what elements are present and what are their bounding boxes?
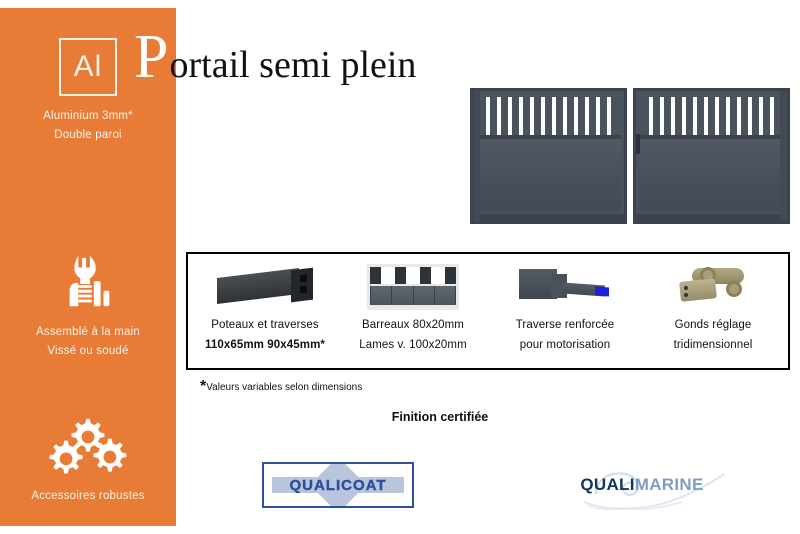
feature-1-line1: Barreaux 80x20mm	[338, 319, 488, 331]
sidebar-block-assembly: Assemblé à la main Vissé ou soudé	[0, 246, 176, 357]
gate-foot-left	[473, 214, 624, 221]
qualimarine-text-part2: MARINE	[635, 475, 704, 494]
feature-0-line1: Poteaux et traverses	[190, 319, 340, 331]
qualimarine-text-part1: QUALI	[580, 475, 634, 494]
feature-0-line2: 110x65mm 90x45mm*	[190, 339, 340, 351]
gate-panel-right	[639, 139, 784, 211]
qualicoat-logo: QUALICOAT	[262, 462, 414, 508]
gate-bars-right	[642, 97, 781, 135]
sidebar-label-accessories-1: Accessoires robustes	[0, 490, 176, 502]
feature-1-line2: Lames v. 100x20mm	[338, 339, 488, 351]
gate-leaf-left	[470, 88, 627, 224]
feature-poteaux-et-traverses: Poteaux et traverses 110x65mm 90x45mm*	[190, 258, 340, 351]
sidebar-label-aluminium-2: Double paroi	[0, 129, 176, 141]
footnote: *Valeurs variables selon dimensions	[200, 378, 362, 396]
feature-3-line2: tridimensionnel	[638, 339, 788, 351]
motorisation-beam-icon	[490, 258, 640, 316]
gate-post-left-outer	[473, 91, 480, 221]
feature-3-line1: Gonds réglage	[638, 319, 788, 331]
aluminium-square-icon-label: Al	[59, 38, 117, 96]
adjustable-hinge-icon	[638, 258, 788, 316]
page-title-initial: P	[134, 26, 168, 88]
qualimarine-logo: QUALIMARINE	[562, 462, 722, 508]
sidebar-label-assembly-2: Vissé ou soudé	[0, 345, 176, 357]
sidebar-label-assembly-1: Assemblé à la main	[0, 326, 176, 338]
double-swing-gate-illustration	[470, 88, 790, 224]
page-title: P ortail semi plein	[134, 26, 416, 88]
qualimarine-logo-text: QUALIMARINE	[580, 475, 703, 495]
hand-wrench-icon	[0, 246, 176, 320]
gate-post-right-outer	[780, 91, 787, 221]
aluminium-profile-icon	[190, 258, 340, 316]
feature-barreaux: Barreaux 80x20mm Lames v. 100x20mm	[338, 258, 488, 351]
qualicoat-logo-text: QUALICOAT	[289, 477, 386, 494]
footnote-text: Valeurs variables selon dimensions	[206, 382, 362, 393]
gate-foot-right	[636, 214, 787, 221]
gate-bars-left	[479, 97, 618, 135]
gate-panel-left	[476, 139, 621, 211]
gate-leaf-right	[633, 88, 790, 224]
finition-heading: Finition certifiée	[0, 410, 800, 424]
slats-sample-icon	[338, 258, 488, 316]
page-title-rest: ortail semi plein	[169, 46, 416, 84]
sidebar-label-aluminium-1: Aluminium 3mm*	[0, 110, 176, 122]
feature-gonds: Gonds réglage tridimensionnel	[638, 258, 788, 351]
feature-2-line2: pour motorisation	[490, 339, 640, 351]
feature-2-line1: Traverse renforcée	[490, 319, 640, 331]
feature-traverse-motorisation: Traverse renforcée pour motorisation	[490, 258, 640, 351]
features-box: Poteaux et traverses 110x65mm 90x45mm* B…	[186, 252, 790, 370]
gate-handle-icon	[636, 134, 640, 154]
